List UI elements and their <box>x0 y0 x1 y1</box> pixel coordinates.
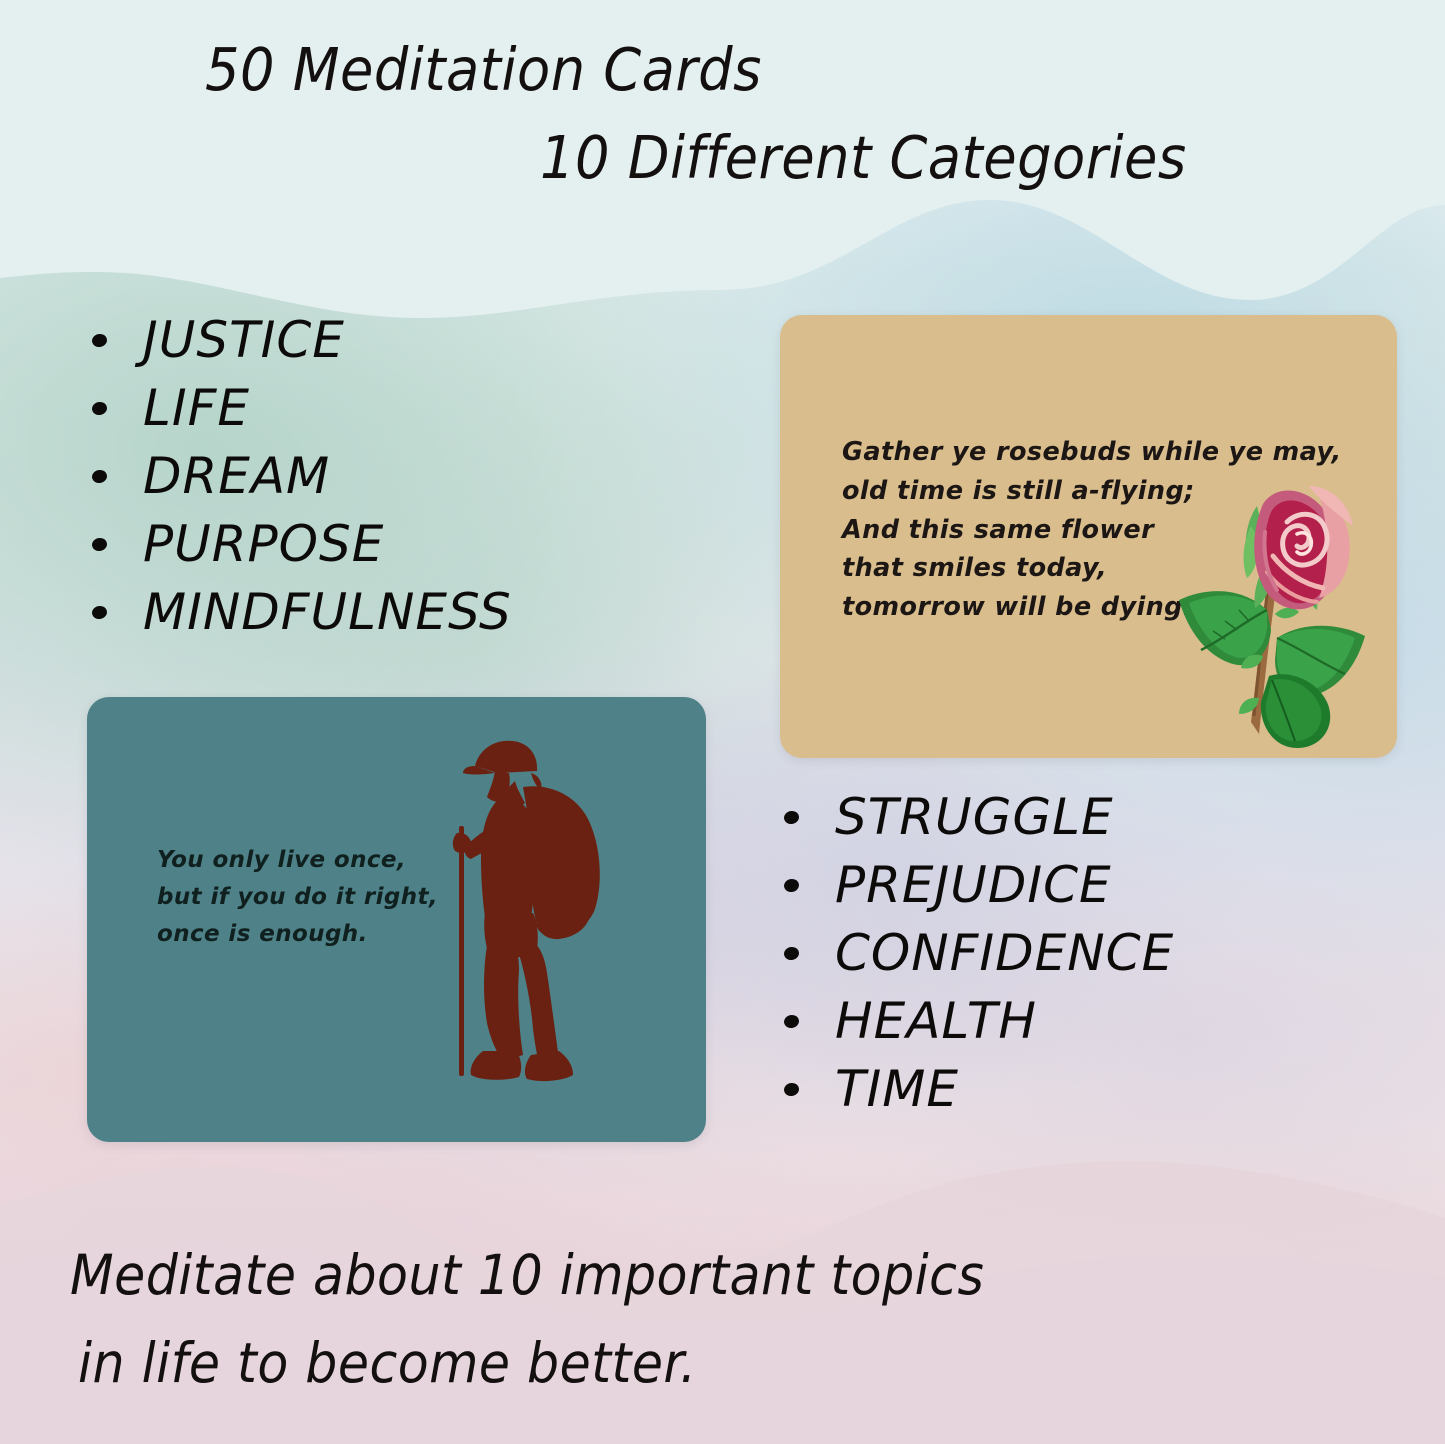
header-line-1: 50 Meditation Cards <box>205 40 762 99</box>
bullet-dot-icon <box>91 604 108 620</box>
list-item: LIFE <box>92 381 512 435</box>
bullet-dot-icon <box>783 1013 800 1029</box>
list-item: PREJUDICE <box>784 858 1174 912</box>
list-item: PURPOSE <box>92 517 512 571</box>
list-item: STRUGGLE <box>784 790 1174 844</box>
meditation-card-hiker: You only live once, but if you do it rig… <box>87 697 706 1142</box>
list-item: CONFIDENCE <box>784 926 1174 980</box>
bullet-dot-icon <box>783 945 800 961</box>
category-label: STRUGGLE <box>835 790 1114 844</box>
bullet-dot-icon <box>91 468 108 484</box>
tagline-line-1: Meditate about 10 important topics <box>70 1248 984 1303</box>
tagline-line-2: in life to become better. <box>78 1336 697 1391</box>
category-label: JUSTICE <box>143 313 345 367</box>
category-label: LIFE <box>143 381 250 435</box>
hiker-card-quote: You only live once, but if you do it rig… <box>157 842 438 952</box>
list-item: MINDFULNESS <box>92 585 512 639</box>
bullet-dot-icon <box>783 1081 800 1097</box>
bullet-dot-icon <box>91 536 108 552</box>
list-item: JUSTICE <box>92 313 512 367</box>
bullet-dot-icon <box>91 400 108 416</box>
header-line-2: 10 Different Categories <box>540 128 1187 187</box>
category-label: TIME <box>835 1062 959 1116</box>
category-label: PREJUDICE <box>835 858 1112 912</box>
category-list-left: JUSTICE LIFE DREAM PURPOSE MINDFULNESS <box>92 313 512 639</box>
category-label: HEALTH <box>835 994 1037 1048</box>
rose-illustration-icon <box>1151 460 1391 750</box>
list-item: HEALTH <box>784 994 1174 1048</box>
poster-tagline: Meditate about 10 important topics in li… <box>70 1248 1064 1303</box>
meditation-card-rose: Gather ye rosebuds while ye may, old tim… <box>780 315 1397 758</box>
list-item: TIME <box>784 1062 1174 1116</box>
category-list-right: STRUGGLE PREJUDICE CONFIDENCE HEALTH TIM… <box>784 790 1174 1116</box>
bullet-dot-icon <box>783 877 800 893</box>
category-label: DREAM <box>143 449 330 503</box>
list-item: DREAM <box>92 449 512 503</box>
category-label: MINDFULNESS <box>143 585 512 639</box>
category-label: CONFIDENCE <box>835 926 1174 980</box>
poster-canvas: 50 Meditation Cards 10 Different Categor… <box>0 0 1445 1444</box>
bullet-dot-icon <box>91 332 108 348</box>
hiker-silhouette-icon <box>439 733 644 1088</box>
bullet-dot-icon <box>783 809 800 825</box>
category-label: PURPOSE <box>143 517 384 571</box>
